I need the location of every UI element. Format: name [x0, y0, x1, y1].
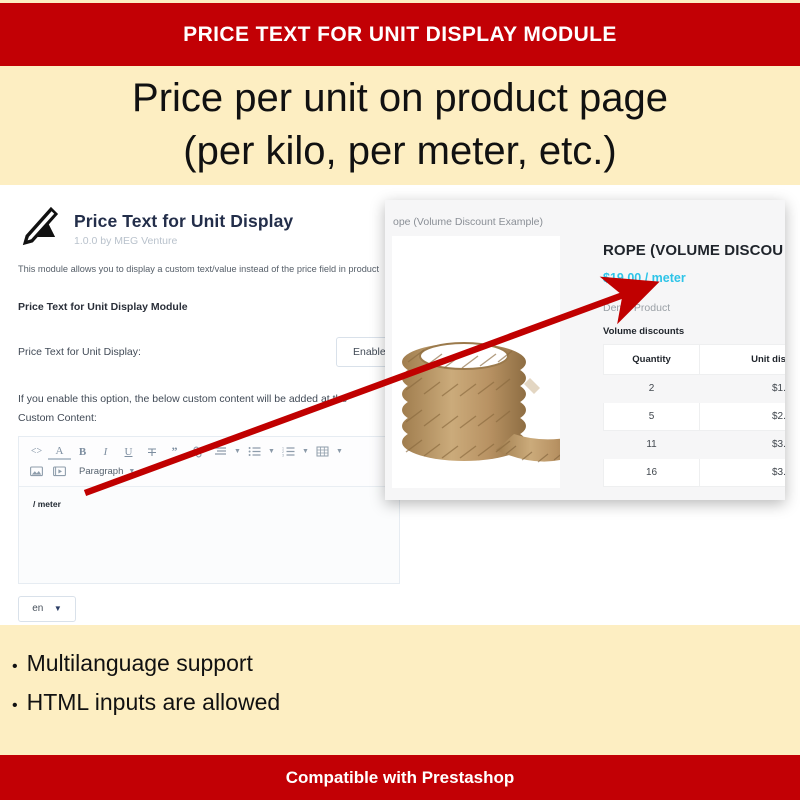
- pen-over-shape-logo-icon: [18, 205, 62, 249]
- top-banner-title: PRICE TEXT FOR UNIT DISPLAY MODULE: [183, 23, 617, 47]
- list-item: • Multilanguage support: [12, 650, 800, 677]
- language-select[interactable]: en ▼: [18, 596, 76, 622]
- footer-banner: Compatible with Prestashop: [0, 755, 800, 800]
- table-row: 16 $3.50: [604, 459, 786, 487]
- headline-line-1: Price per unit on product page: [132, 72, 668, 125]
- list-item: • HTML inputs are allowed: [12, 689, 800, 716]
- blockquote-icon[interactable]: ”: [163, 442, 186, 461]
- volume-discount-table: Quantity Unit disco 2 $1.00 5 $2.00: [603, 344, 785, 487]
- product-image: [392, 236, 560, 488]
- rope-illustration-icon: [392, 332, 560, 488]
- editor-content-text: / meter: [33, 499, 61, 509]
- bullet-list-chevron-down-icon[interactable]: ▼: [266, 442, 277, 461]
- cell-discount: $3.50: [700, 459, 785, 487]
- editor-toolbar: <> A B I U ”: [19, 437, 399, 487]
- align-chevron-down-icon[interactable]: ▼: [232, 442, 243, 461]
- footer-text: Compatible with Prestashop: [286, 768, 515, 788]
- enable-field-label: Price Text for Unit Display:: [18, 346, 141, 358]
- promo-banner-page: PRICE TEXT FOR UNIT DISPLAY MODULE Price…: [0, 0, 800, 800]
- headline-line-2: (per kilo, per meter, etc.): [183, 125, 616, 178]
- feature-label: HTML inputs are allowed: [27, 689, 281, 716]
- cell-quantity: 2: [604, 375, 700, 403]
- paragraph-chevron-down-icon: ▼: [128, 468, 135, 475]
- module-version: 1.0.0 by MEG Venture: [74, 235, 293, 247]
- cell-discount: $1.00: [700, 375, 785, 403]
- strikethrough-icon[interactable]: [140, 442, 163, 461]
- feature-list: • Multilanguage support • HTML inputs ar…: [0, 625, 800, 755]
- module-title: Price Text for Unit Display: [74, 211, 293, 232]
- paragraph-format-label: Paragraph: [79, 466, 123, 477]
- table-icon[interactable]: [311, 442, 334, 461]
- screenshot-stage: Price Text for Unit Display 1.0.0 by MEG…: [0, 185, 800, 625]
- editor-toolbar-row-1: <> A B I U ”: [25, 442, 393, 462]
- product-details: ROPE (VOLUME DISCOU $19.00 / meter Demo …: [603, 242, 785, 487]
- bold-icon[interactable]: B: [71, 442, 94, 461]
- headline-block: Price per unit on product page (per kilo…: [0, 66, 800, 183]
- language-chevron-down-icon: ▼: [54, 604, 62, 613]
- cell-quantity: 5: [604, 403, 700, 431]
- table-row: 11 $3.00: [604, 431, 786, 459]
- source-code-icon[interactable]: <>: [25, 442, 48, 461]
- bullet-icon: •: [12, 659, 18, 675]
- bullet-icon: •: [12, 698, 18, 714]
- link-icon[interactable]: [186, 442, 209, 461]
- wysiwyg-editor[interactable]: <> A B I U ”: [18, 436, 400, 584]
- table-row: 2 $1.00: [604, 375, 786, 403]
- underline-icon[interactable]: U: [117, 442, 140, 461]
- svg-text:3: 3: [282, 454, 284, 458]
- insert-video-icon[interactable]: [48, 462, 71, 481]
- paragraph-format-dropdown[interactable]: Paragraph ▼: [79, 466, 135, 477]
- bullet-list-icon[interactable]: [243, 442, 266, 461]
- insert-image-icon[interactable]: [25, 462, 48, 481]
- table-header-row: Quantity Unit disco: [604, 345, 786, 375]
- cell-discount: $3.00: [700, 431, 785, 459]
- table-chevron-down-icon[interactable]: ▼: [334, 442, 345, 461]
- admin-title-group: Price Text for Unit Display 1.0.0 by MEG…: [74, 203, 293, 247]
- volume-discounts-title: Volume discounts: [603, 326, 785, 337]
- product-subtitle: Demo Product: [603, 302, 785, 314]
- cell-quantity: 11: [604, 431, 700, 459]
- product-title: ROPE (VOLUME DISCOU: [603, 242, 785, 259]
- numbered-list-chevron-down-icon[interactable]: ▼: [300, 442, 311, 461]
- front-office-overlay: ope (Volume Discount Example): [385, 200, 785, 500]
- editor-content-area[interactable]: / meter: [19, 487, 399, 583]
- align-icon[interactable]: [209, 442, 232, 461]
- feature-label: Multilanguage support: [27, 650, 253, 677]
- language-select-value: en: [32, 603, 43, 614]
- table-header-quantity: Quantity: [604, 345, 700, 375]
- cell-discount: $2.00: [700, 403, 785, 431]
- table-header-unit-discount: Unit disco: [700, 345, 785, 375]
- text-color-icon[interactable]: A: [48, 443, 71, 460]
- top-banner: PRICE TEXT FOR UNIT DISPLAY MODULE: [0, 3, 800, 66]
- italic-icon[interactable]: I: [94, 442, 117, 461]
- table-row: 5 $2.00: [604, 403, 786, 431]
- numbered-list-icon[interactable]: 123: [277, 442, 300, 461]
- cell-quantity: 16: [604, 459, 700, 487]
- breadcrumb: ope (Volume Discount Example): [393, 216, 543, 228]
- product-price: $19.00 / meter: [603, 271, 785, 285]
- editor-toolbar-row-2: Paragraph ▼: [25, 462, 393, 482]
